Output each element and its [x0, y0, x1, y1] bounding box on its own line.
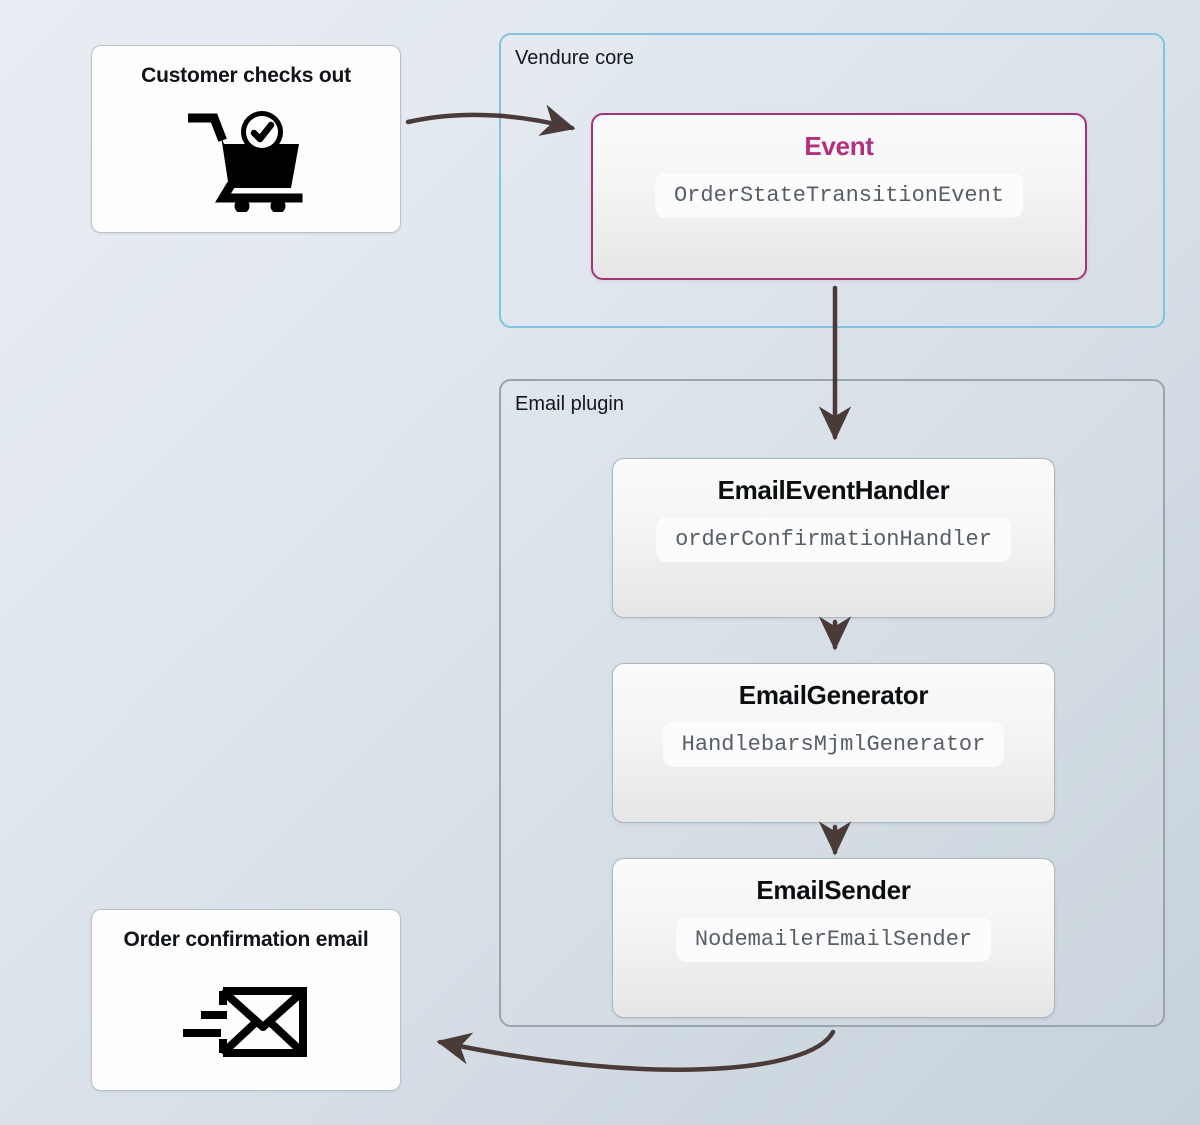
group-label-email-plugin: Email plugin	[515, 393, 624, 416]
card-email-event-handler[interactable]: EmailEventHandler orderConfirmationHandl…	[612, 458, 1055, 618]
node-email-title: Order confirmation email	[124, 928, 369, 952]
card-email-sender-code: NodemailerEmailSender	[677, 918, 990, 961]
card-email-generator-title: EmailGenerator	[739, 680, 928, 711]
card-email-event-handler-title: EmailEventHandler	[718, 475, 950, 506]
card-email-event-handler-code: orderConfirmationHandler	[657, 518, 1010, 561]
shopping-cart-check-icon	[92, 88, 400, 232]
card-event[interactable]: Event OrderStateTransitionEvent	[591, 113, 1087, 280]
diagram-canvas: Vendure core Email plugin Customer check…	[0, 0, 1200, 1125]
group-label-vendure-core: Vendure core	[515, 47, 634, 70]
card-email-sender[interactable]: EmailSender NodemailerEmailSender	[612, 858, 1055, 1018]
node-customer-checks-out[interactable]: Customer checks out	[91, 45, 401, 233]
node-order-confirmation-email[interactable]: Order confirmation email	[91, 909, 401, 1091]
card-event-code: OrderStateTransitionEvent	[656, 174, 1022, 217]
arrow-sender-to-email	[440, 1032, 833, 1070]
card-email-sender-title: EmailSender	[756, 875, 910, 906]
envelope-send-icon	[92, 952, 400, 1090]
card-email-generator[interactable]: EmailGenerator HandlebarsMjmlGenerator	[612, 663, 1055, 823]
node-customer-title: Customer checks out	[141, 64, 351, 88]
card-event-title: Event	[804, 131, 873, 162]
card-email-generator-code: HandlebarsMjmlGenerator	[664, 723, 1004, 766]
